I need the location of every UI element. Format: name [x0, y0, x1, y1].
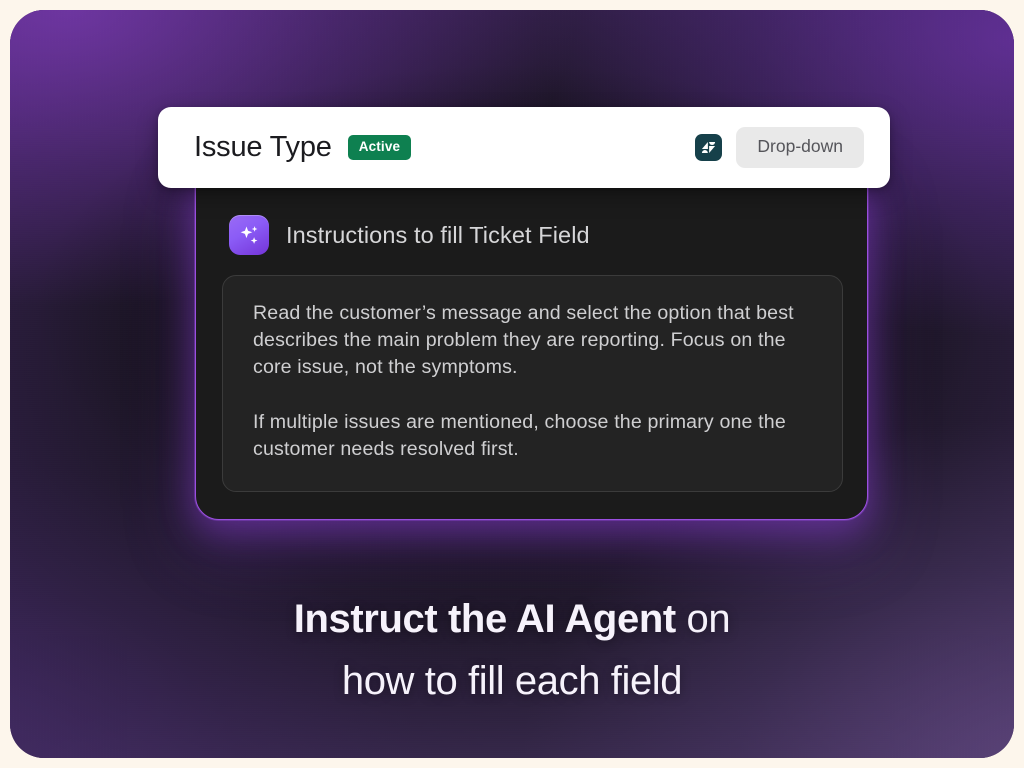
slide-stage: Instructions to fill Ticket Field Read t…	[10, 10, 1014, 758]
instruction-paragraph: Read the customer’s message and select t…	[253, 300, 816, 382]
caption-line-1: Instruct the AI Agent on	[10, 588, 1014, 650]
ticket-field-instruction-card: Instructions to fill Ticket Field Read t…	[195, 160, 868, 520]
caption-rest: on	[676, 597, 730, 641]
zendesk-icon	[695, 134, 722, 161]
caption-text: Instruct the AI Agent on how to fill eac…	[10, 588, 1014, 712]
instruction-header-row: Instructions to fill Ticket Field	[229, 215, 590, 255]
ticket-field-name: Issue Type	[194, 131, 332, 164]
ticket-field-header-card[interactable]: Issue Type Active Drop-down	[158, 107, 890, 188]
sparkles-icon	[229, 215, 269, 255]
caption-line-2: how to fill each field	[10, 650, 1014, 712]
ticket-field-identity: Issue Type Active	[194, 131, 411, 164]
instruction-paragraph: If multiple issues are mentioned, choose…	[253, 409, 816, 463]
ticket-field-meta: Drop-down	[695, 127, 864, 168]
instructions-textarea[interactable]: Read the customer’s message and select t…	[222, 275, 843, 492]
field-type-pill[interactable]: Drop-down	[736, 127, 864, 168]
caption-bold: Instruct the AI Agent	[294, 597, 676, 641]
instruction-heading: Instructions to fill Ticket Field	[286, 222, 590, 249]
status-badge: Active	[348, 135, 411, 160]
